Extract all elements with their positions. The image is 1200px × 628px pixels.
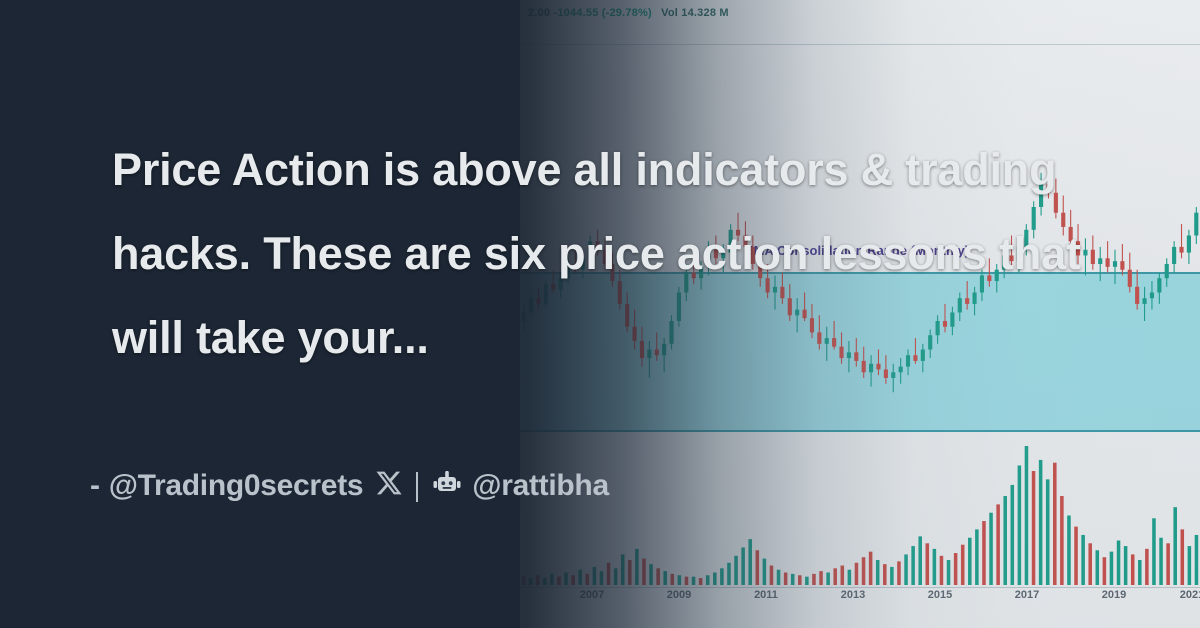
service-handle: @rattibha [472,469,609,503]
attribution-divider [416,472,418,502]
quote-text: Price Action is above all indicators & t… [112,128,1112,380]
robot-icon [432,471,462,505]
author-handle: @Trading0secrets [109,469,364,503]
quote-card: 2.00 -1044.55 (-29.78%) Vol 14.328 M EMA… [0,0,1200,628]
card-content: Price Action is above all indicators & t… [0,0,1200,628]
x-logo-icon [375,469,403,505]
attribution-line: - @Trading0secrets [90,468,609,504]
attribution-dash: - [90,469,100,503]
